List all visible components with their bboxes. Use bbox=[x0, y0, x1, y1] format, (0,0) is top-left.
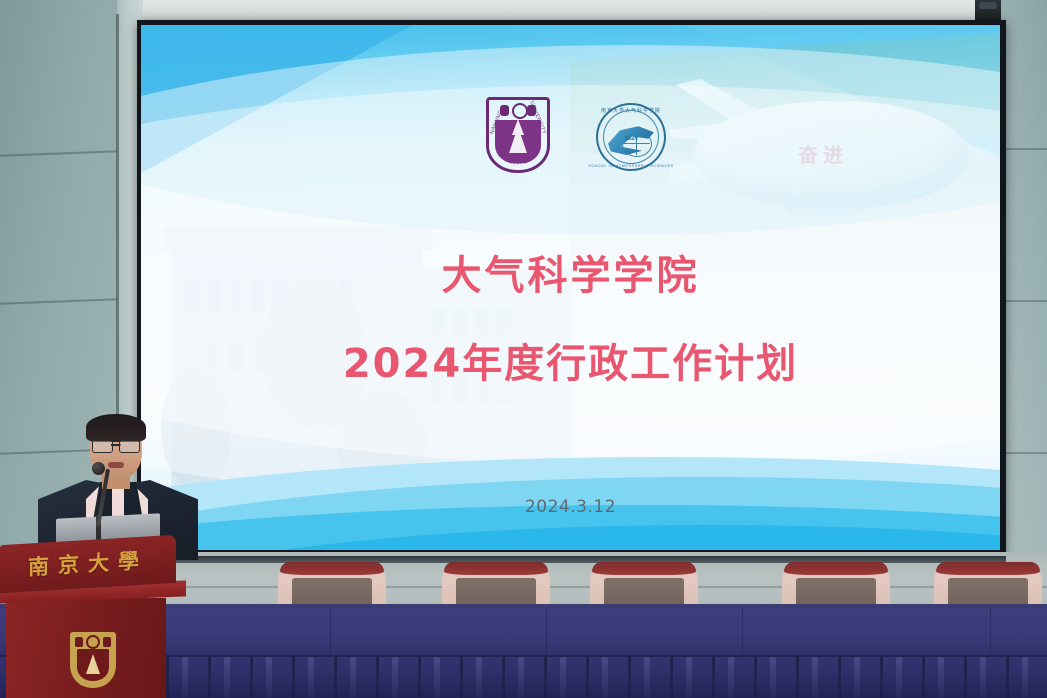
slide-title: 大气科学学院 bbox=[141, 243, 1000, 301]
skirt-pleat-highlight bbox=[602, 657, 608, 698]
microphone-icon[interactable] bbox=[92, 462, 105, 475]
cloth-seam bbox=[330, 608, 331, 658]
screenshot-root: 奋进 bbox=[0, 0, 1047, 698]
skirt-pleat-highlight bbox=[980, 657, 986, 698]
skirt-pleat bbox=[838, 657, 841, 698]
crest-lion-right-icon bbox=[103, 637, 111, 647]
skirt-pleat-highlight bbox=[728, 657, 734, 698]
skirt-pleat bbox=[754, 657, 757, 698]
crest-lion-left-icon bbox=[75, 637, 83, 647]
skirt-pleat-highlight bbox=[854, 657, 860, 698]
nanjing-university-crest bbox=[70, 632, 116, 688]
school-of-atmospheric-sciences-logo: 1924 南京大学大气科学学院 SCHOOL OF ATMOSPHERIC SC… bbox=[596, 103, 666, 171]
slide-logos: NANJING UNIVERSITY 1902 1924 南京大学大气科学学院 … bbox=[486, 97, 676, 177]
skirt-pleat bbox=[502, 657, 505, 698]
skirt-pleat bbox=[292, 657, 295, 698]
skirt-pleat-highlight bbox=[770, 657, 776, 698]
skirt-pleat-highlight bbox=[812, 657, 818, 698]
chair-top-rail bbox=[936, 562, 1040, 575]
logo-cn-text: 南京大学大气科学学院 bbox=[601, 107, 661, 114]
cloth-seam bbox=[990, 608, 991, 658]
chair-top-rail bbox=[444, 562, 548, 575]
projection-screen-frame: 奋进 bbox=[137, 20, 1006, 561]
skirt-pleat bbox=[670, 657, 673, 698]
presenter-mouth bbox=[108, 462, 124, 468]
skirt-pleat bbox=[586, 657, 589, 698]
skirt-pleat bbox=[628, 657, 631, 698]
skirt-pleat bbox=[544, 657, 547, 698]
skirt-pleat bbox=[922, 657, 925, 698]
chair-top-rail bbox=[592, 562, 696, 575]
slide-date: 2024.3.12 bbox=[141, 497, 1000, 517]
logo-en-text: SCHOOL OF ATMOSPHERIC SCIENCES bbox=[588, 164, 673, 168]
skirt-pleat bbox=[376, 657, 379, 698]
skirt-pleat-highlight bbox=[476, 657, 482, 698]
presentation-slide: 奋进 bbox=[141, 25, 1000, 550]
skirt-pleat bbox=[880, 657, 883, 698]
chair-top-rail bbox=[280, 562, 384, 575]
skirt-pleat-highlight bbox=[392, 657, 398, 698]
lens-right bbox=[119, 440, 140, 453]
orb-icon bbox=[512, 103, 528, 119]
nanjing-university-logo: NANJING UNIVERSITY 1902 bbox=[486, 97, 550, 173]
podium: 南京大學 bbox=[0, 540, 186, 698]
skirt-pleat-highlight bbox=[1022, 657, 1028, 698]
skirt-pleat bbox=[208, 657, 211, 698]
skirt-pleat bbox=[418, 657, 421, 698]
cloth-seam bbox=[742, 608, 743, 658]
skirt-pleat bbox=[712, 657, 715, 698]
skirt-pleat-highlight bbox=[560, 657, 566, 698]
lens-left bbox=[92, 440, 113, 453]
eyeglasses-icon bbox=[92, 440, 140, 451]
skirt-pleat-highlight bbox=[266, 657, 272, 698]
skirt-pleat bbox=[460, 657, 463, 698]
skirt-pleat-highlight bbox=[686, 657, 692, 698]
slide-subtitle: 2024年度行政工作计划 bbox=[141, 331, 1000, 389]
pine-tree-icon bbox=[509, 127, 527, 153]
logo-year: 1924 bbox=[624, 136, 637, 142]
presenter-hair bbox=[86, 414, 146, 442]
skirt-pleat-highlight bbox=[518, 657, 524, 698]
skirt-pleat-highlight bbox=[224, 657, 230, 698]
cloth-seam bbox=[546, 608, 547, 658]
skirt-pleat-highlight bbox=[644, 657, 650, 698]
skirt-pleat bbox=[1006, 657, 1009, 698]
skirt-pleat bbox=[334, 657, 337, 698]
skirt-pleat-highlight bbox=[350, 657, 356, 698]
logo-year: 1902 bbox=[511, 163, 524, 169]
skirt-pleat-highlight bbox=[308, 657, 314, 698]
chair-top-rail bbox=[784, 562, 888, 575]
skirt-pleat bbox=[964, 657, 967, 698]
crest-orb-icon bbox=[86, 635, 100, 649]
crest-pine-tree-icon bbox=[86, 654, 100, 674]
skirt-pleat-highlight bbox=[896, 657, 902, 698]
skirt-pleat bbox=[796, 657, 799, 698]
skirt-pleat bbox=[250, 657, 253, 698]
skirt-pleat-highlight bbox=[938, 657, 944, 698]
skirt-pleat-highlight bbox=[434, 657, 440, 698]
